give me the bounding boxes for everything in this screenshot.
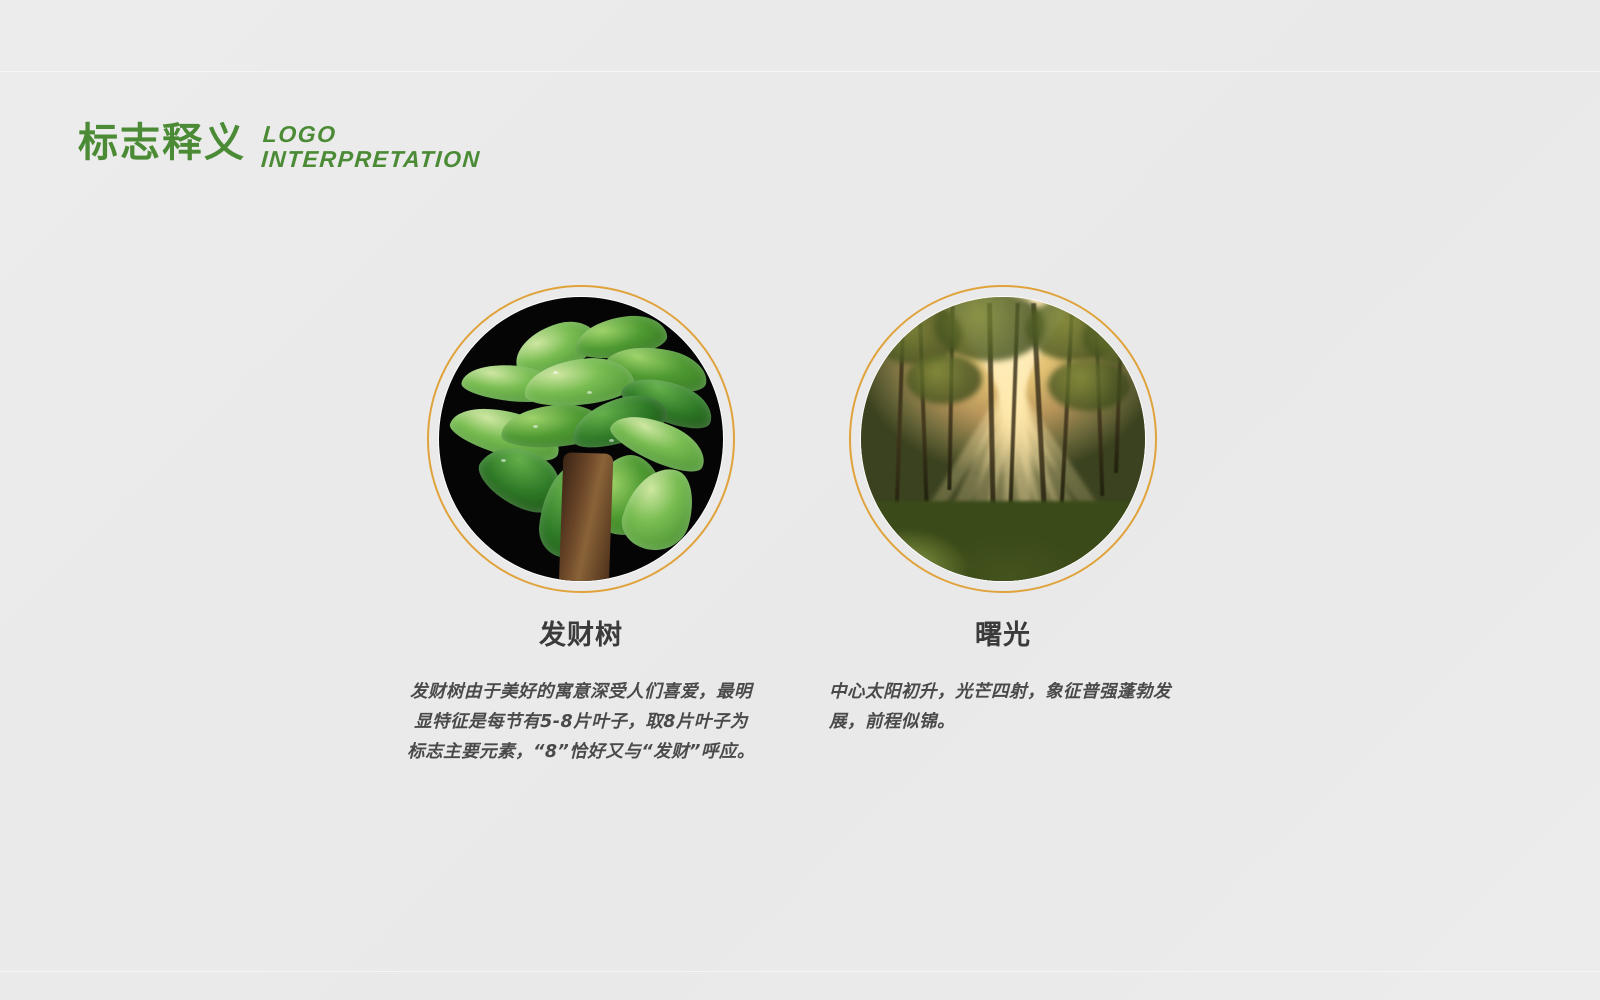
sunbeam-forest-photo [860,296,1146,582]
money-tree-photo [438,296,724,582]
money-tree-scene [439,297,723,581]
card-title-dawn-light: 曙光 [823,619,1183,653]
page-title-en-line1: LOGO [262,122,483,147]
bottom-divider-band [0,971,1600,972]
page-header: 标志释义 LOGO INTERPRETATION [78,118,481,172]
concept-card-dawn-light: 曙光 中心太阳初升，光芒四射，象征普强蓬勃发展，前程似锦。 [823,285,1183,737]
tree-trunk [559,452,614,582]
page-title-cn: 标志释义 [78,118,246,168]
card-body-dawn-light: 中心太阳初升，光芒四射，象征普强蓬勃发展，前程似锦。 [823,677,1183,737]
sunbeam-forest-scene [861,297,1145,581]
page-title-en-line2: INTERPRETATION [260,147,481,172]
card-title-money-tree: 发财树 [401,619,761,653]
slide-canvas: 标志释义 LOGO INTERPRETATION [0,0,1600,1000]
card-body-money-tree: 发财树由于美好的寓意深受人们喜爱，最明显特征是每节有5-8片叶子，取8片叶子为标… [401,677,761,767]
concept-card-money-tree: 发财树 发财树由于美好的寓意深受人们喜爱，最明显特征是每节有5-8片叶子，取8片… [401,285,761,767]
page-title-en: LOGO INTERPRETATION [260,122,483,172]
top-divider-band [0,71,1600,72]
circle-frame-money-tree [427,285,735,593]
circle-frame-dawn-light [849,285,1157,593]
forest-undergrowth [860,501,1146,582]
